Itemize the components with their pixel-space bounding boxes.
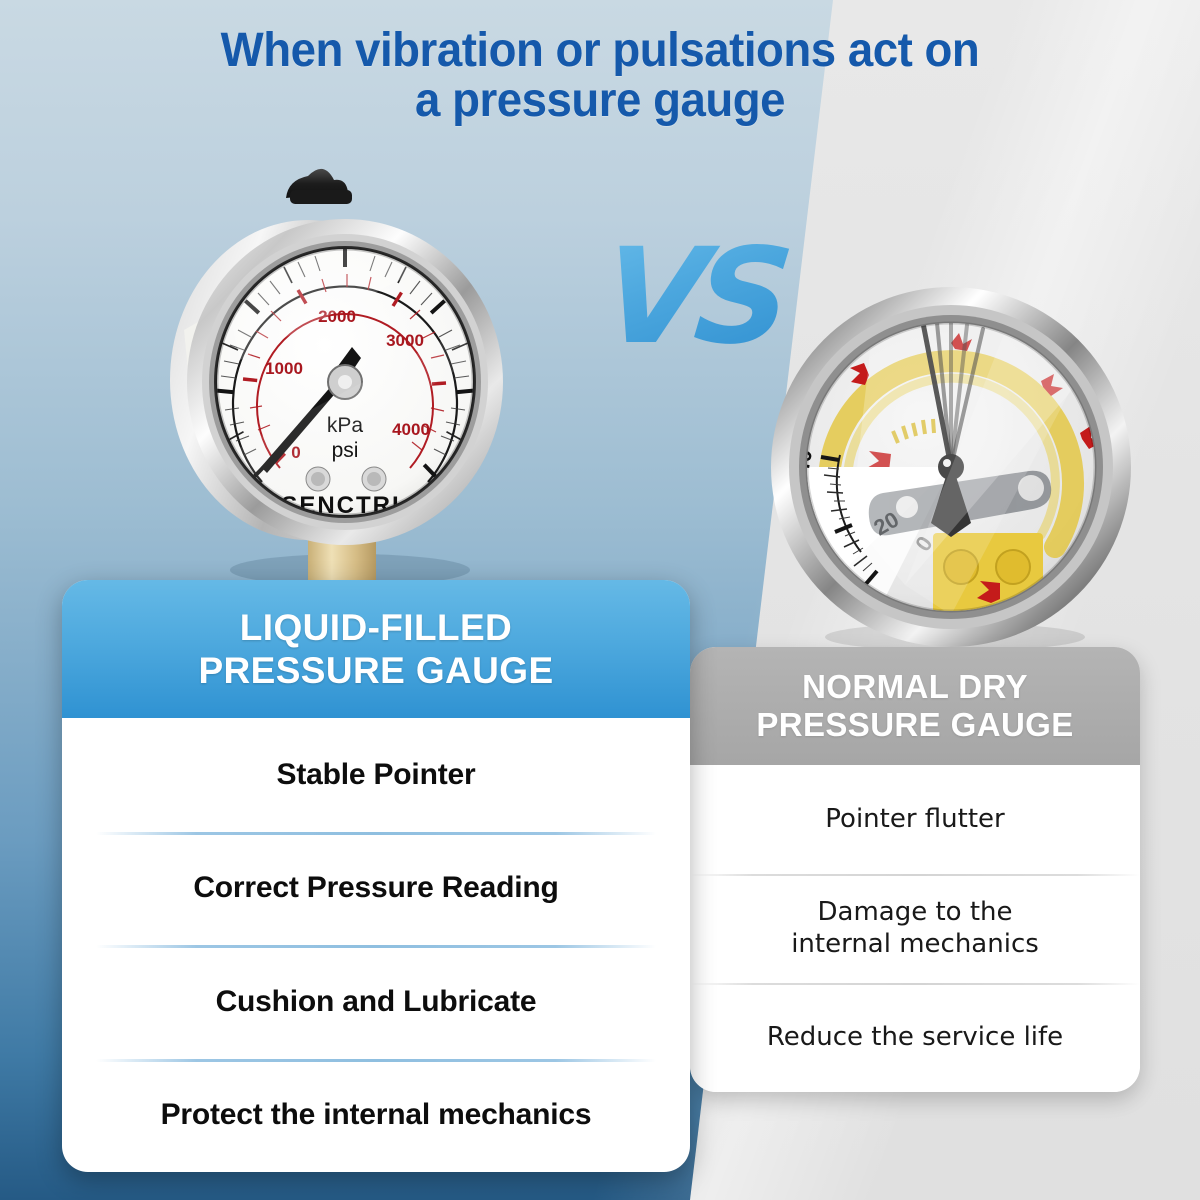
list-item: Stable Pointer xyxy=(62,718,690,832)
page-title-line2: a pressure gauge xyxy=(30,76,1170,126)
dry-panel-header-line1: NORMAL DRY xyxy=(802,668,1028,705)
list-item: Correct Pressure Reading xyxy=(62,832,690,946)
liquid-panel-header-line2: PRESSURE GAUGE xyxy=(198,650,553,691)
list-item: Damage to theinternal mechanics xyxy=(690,874,1140,983)
kpa-tick-3000: 3000 xyxy=(386,331,424,350)
dry-panel-header-line2: PRESSURE GAUGE xyxy=(756,706,1073,743)
infographic-stage: When vibration or pulsations act on a pr… xyxy=(0,0,1200,1200)
kpa-tick-1000: 1000 xyxy=(265,359,303,378)
list-item: Cushion and Lubricate xyxy=(62,945,690,1059)
liquid-panel-header-line1: LIQUID-FILLED xyxy=(240,607,512,648)
dry-gauge-image: 40 20 0 0 xyxy=(755,285,1145,655)
liquid-filled-gauge-image: 0 100 200 300 400 500 600 xyxy=(140,150,560,600)
dry-gauge-panel-header: NORMAL DRY PRESSURE GAUGE xyxy=(690,647,1140,765)
liquid-filled-panel: LIQUID-FILLED PRESSURE GAUGE Stable Poin… xyxy=(62,580,690,1172)
page-title: When vibration or pulsations act on a pr… xyxy=(30,26,1170,126)
vs-badge: VS xyxy=(597,232,811,364)
list-item: Reduce the service life xyxy=(690,983,1140,1092)
dry-gauge-panel: NORMAL DRY PRESSURE GAUGE Pointer flutte… xyxy=(690,647,1140,1092)
liquid-filled-panel-header: LIQUID-FILLED PRESSURE GAUGE xyxy=(62,580,690,718)
kpa-tick-4000: 4000 xyxy=(392,420,430,439)
list-item: Pointer flutter xyxy=(690,765,1140,874)
dry-gauge-drawback-list: Pointer flutter Damage to theinternal me… xyxy=(690,765,1140,1092)
list-item: Protect the internal mechanics xyxy=(62,1059,690,1173)
liquid-filled-benefit-list: Stable Pointer Correct Pressure Reading … xyxy=(62,718,690,1172)
page-title-line1: When vibration or pulsations act on xyxy=(221,24,980,77)
